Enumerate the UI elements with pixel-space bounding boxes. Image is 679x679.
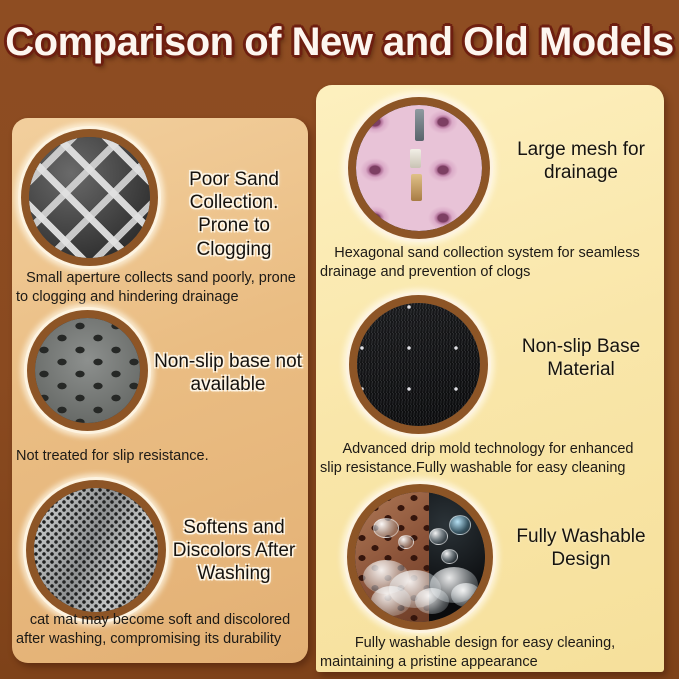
- black-nonslip-weave-photo: [357, 303, 480, 426]
- heading-line: Large: [517, 139, 566, 160]
- soap-bubble: [398, 535, 414, 549]
- debris-pellet-grey: [415, 109, 424, 141]
- heading-line: Washing: [197, 563, 270, 584]
- old-feature-3-heading: Softens and Discolors After Washing: [164, 516, 304, 586]
- new-feature-2-caption: Advanced drip mold technology for enhanc…: [320, 440, 656, 478]
- old-feature-2-heading: Non-slip base not available: [152, 350, 304, 396]
- nonslip-base-material-image: [346, 292, 491, 437]
- soap-bubble: [441, 549, 458, 564]
- soap-bubble: [449, 515, 471, 535]
- pink-honeycomb-mat-photo: [356, 105, 482, 231]
- fully-washable-design-image: [344, 481, 496, 633]
- new-feature-3-heading: Fully Washable Design: [501, 525, 661, 571]
- heading-line: Discolors After: [173, 540, 295, 561]
- old-feature-1-caption: Small aperture collects sand poorly, pro…: [16, 269, 306, 307]
- heading-line: Non-slip base: [154, 351, 270, 372]
- heading-line: Washable Design: [551, 526, 645, 570]
- old-model-panel: Poor Sand Collection. Prone to Clogging …: [12, 118, 308, 663]
- grey-dimpled-base-photo: [35, 318, 140, 423]
- new-feature-1-heading: Large mesh for drainage: [498, 138, 664, 184]
- foam-cluster: [451, 583, 481, 607]
- foam-cluster: [415, 588, 449, 614]
- grey-fine-mesh-fabric-photo: [34, 488, 158, 612]
- heading-line: Poor Sand: [189, 169, 279, 190]
- new-feature-2-heading: Non-slip Base Material: [501, 335, 661, 381]
- grey-waffle-mesh-photo: [29, 137, 150, 258]
- page-title: Comparison of New and Old Models: [5, 20, 674, 65]
- title-bar: Comparison of New and Old Models: [0, 0, 679, 84]
- soap-bubble: [373, 518, 399, 538]
- new-model-panel: Large mesh for drainage Hexagonal sand c…: [316, 85, 664, 672]
- old-feature-1-heading: Poor Sand Collection. Prone to Clogging: [162, 168, 306, 261]
- new-feature-1-caption: Hexagonal sand collection system for sea…: [320, 244, 654, 282]
- old-feature-3-caption: cat mat may become soft and discolored a…: [16, 611, 304, 649]
- old-feature-2-caption: Not treated for slip resistance.: [16, 447, 281, 466]
- debris-pellet-white: [410, 149, 421, 168]
- softens-discolors-image: [23, 477, 169, 623]
- washable-mat-bubbles-photo: [355, 492, 485, 622]
- large-mesh-drainage-image: [345, 94, 493, 242]
- no-nonslip-base-image: [24, 307, 151, 434]
- heading-line: Non-slip: [522, 336, 592, 357]
- comparison-infographic: Comparison of New and Old Models Poor Sa…: [0, 0, 679, 679]
- poor-sand-collection-image: [18, 126, 161, 269]
- new-feature-3-caption: Fully washable design for easy cleaning,…: [320, 634, 650, 672]
- foam-cluster: [371, 586, 411, 616]
- heading-line: Softens and: [183, 517, 284, 538]
- debris-pellet-tan: [411, 174, 422, 201]
- heading-line: Fully: [516, 526, 556, 547]
